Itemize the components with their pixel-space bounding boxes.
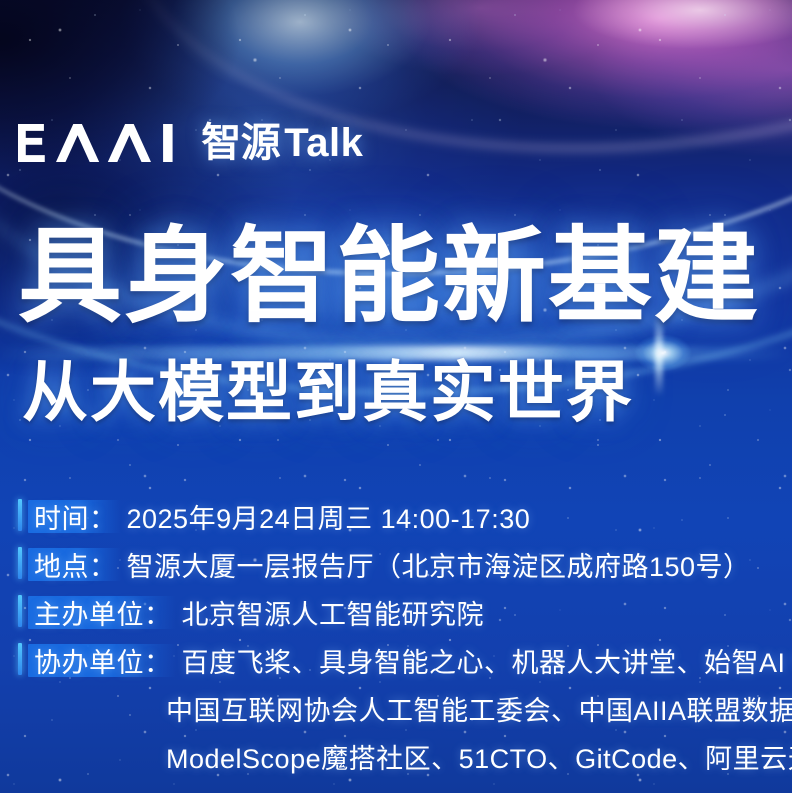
detail-value-organizer: 北京智源人工智能研究院 (182, 593, 485, 632)
detail-row-location: 地点： 智源大厦一层报告厅（北京市海淀区成府路150号） (0, 540, 792, 588)
detail-value-time: 2025年9月24日周三 14:00-17:30 (127, 497, 531, 536)
detail-row-organizer: 主办单位： 北京智源人工智能研究院 (0, 588, 792, 636)
detail-label-wrap: 地点： (28, 548, 121, 581)
event-details: 时间： 2025年9月24日周三 14:00-17:30 地点： 智源大厦一层报… (0, 492, 792, 780)
accent-bar-icon (18, 547, 22, 579)
detail-label-wrap: 时间： (28, 500, 121, 533)
accent-bar-icon (18, 499, 22, 531)
detail-label-time: 时间： (34, 497, 117, 536)
detail-value-co-organizer-line3: ModelScope魔搭社区、51CTO、GitCode、阿里云天池 (166, 737, 792, 776)
baai-logo-icon (18, 124, 187, 162)
detail-label-wrap: 主办单位： (28, 596, 176, 629)
detail-row-co-organizer-line2: 中国互联网协会人工智能工委会、中国AIIA联盟数据委员 (0, 684, 792, 732)
poster-content: 智源 Talk 具身智能新基建 从大模型到真实世界 时间： 2025年9月24日… (0, 0, 792, 793)
detail-value-location: 智源大厦一层报告厅（北京市海淀区成府路150号） (127, 545, 751, 584)
accent-bar-icon (18, 643, 22, 675)
detail-label-co-organizer: 协办单位： (34, 641, 172, 680)
accent-bar-icon (18, 595, 22, 627)
detail-value-co-organizer: 百度飞桨、具身智能之心、机器人大讲堂、始智AI Wise (182, 641, 792, 680)
event-poster: 智源 Talk 具身智能新基建 从大模型到真实世界 时间： 2025年9月24日… (0, 0, 792, 793)
poster-subhead: 从大模型到真实世界 (22, 358, 634, 428)
detail-label-location: 地点： (34, 545, 117, 584)
detail-label-organizer: 主办单位： (34, 593, 172, 632)
brand-wordmark-en: Talk (284, 123, 363, 163)
detail-row-time: 时间： 2025年9月24日周三 14:00-17:30 (0, 492, 792, 540)
detail-label-wrap: 协办单位： (28, 644, 176, 677)
brand-logo: 智源 Talk (18, 112, 363, 174)
poster-headline: 具身智能新基建 (18, 222, 760, 332)
detail-row-co-organizer-line3: ModelScope魔搭社区、51CTO、GitCode、阿里云天池 (0, 732, 792, 780)
detail-value-co-organizer-line2: 中国互联网协会人工智能工委会、中国AIIA联盟数据委员 (166, 689, 792, 728)
detail-row-co-organizer: 协办单位： 百度飞桨、具身智能之心、机器人大讲堂、始智AI Wise (0, 636, 792, 684)
brand-wordmark-cn: 智源 (201, 123, 280, 163)
